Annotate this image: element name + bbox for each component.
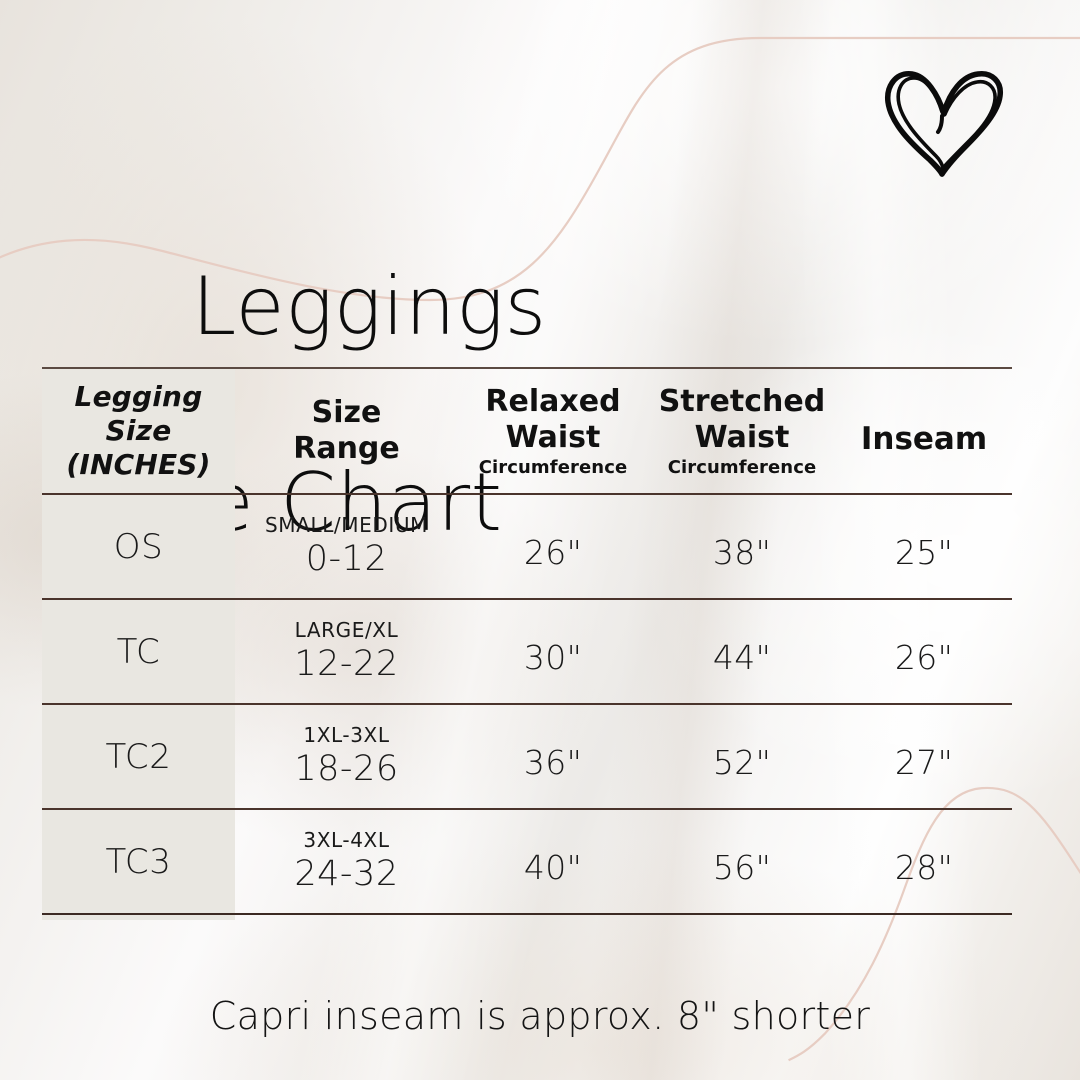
cell-stretched-waist: 38" (648, 500, 836, 605)
cell-size-range-label: 1XL-3XL (235, 723, 458, 747)
header-stretched-waist-line1: Stretched (648, 384, 836, 420)
header-stretched-waist-line2: Waist (648, 420, 836, 456)
cell-stretched-waist: 56" (648, 815, 836, 920)
header-size-range: Size Range (235, 368, 458, 494)
cell-size-range-label: LARGE/XL (235, 618, 458, 642)
cell-size-range: 1XL-3XL 18-26 (235, 704, 458, 809)
heart-doodle-icon (878, 56, 1014, 186)
footnote: Capri inseam is approx. 8" shorter (0, 994, 1080, 1038)
header-legging-size-line1: Legging Size (42, 380, 235, 448)
cell-size-range: SMALL/MEDIUM 0-12 (235, 494, 458, 599)
table-row: OS SMALL/MEDIUM 0-12 26" 38" 25" (42, 494, 1012, 599)
table-header: Legging Size (INCHES) Size Range Relaxed… (42, 368, 1012, 494)
cell-relaxed-waist: 36" (458, 710, 648, 815)
header-size-range-line2: Range (235, 431, 458, 467)
header-stretched-waist: Stretched Waist Circumference (648, 368, 836, 494)
header-relaxed-waist: Relaxed Waist Circumference (458, 368, 648, 494)
table-row: TC2 1XL-3XL 18-26 36" 52" 27" (42, 704, 1012, 809)
header-relaxed-waist-line2: Waist (458, 420, 648, 456)
cell-size-range: 3XL-4XL 24-32 (235, 809, 458, 914)
page-title-line1: Leggings (192, 260, 547, 353)
cell-size: TC2 (42, 704, 235, 809)
cell-size-range-numbers: 12-22 (235, 643, 458, 685)
header-legging-size: Legging Size (INCHES) (42, 368, 235, 494)
header-inseam: Inseam (836, 376, 1012, 502)
cell-size-range: LARGE/XL 12-22 (235, 599, 458, 704)
cell-size-range-numbers: 18-26 (235, 748, 458, 790)
cell-size: OS (42, 494, 235, 599)
header-relaxed-waist-line1: Relaxed (458, 384, 648, 420)
cell-inseam: 25" (836, 500, 1012, 605)
cell-size-range-numbers: 24-32 (235, 853, 458, 895)
header-stretched-waist-sub: Circumference (648, 457, 836, 479)
header-legging-size-line2: (INCHES) (42, 448, 235, 482)
header-relaxed-waist-sub: Circumference (458, 457, 648, 479)
cell-inseam: 28" (836, 815, 1012, 920)
size-chart-canvas: Leggings Size Chart Legging Size (INCHES… (0, 0, 1080, 1080)
cell-relaxed-waist: 30" (458, 605, 648, 710)
cell-stretched-waist: 52" (648, 710, 836, 815)
cell-size-range-label: SMALL/MEDIUM (235, 513, 458, 537)
table-header-row: Legging Size (INCHES) Size Range Relaxed… (42, 368, 1012, 494)
cell-size: TC3 (42, 809, 235, 914)
size-chart-table-wrap: Legging Size (INCHES) Size Range Relaxed… (42, 367, 1012, 915)
cell-size-range-numbers: 0-12 (235, 538, 458, 580)
cell-relaxed-waist: 26" (458, 500, 648, 605)
header-size-range-line1: Size (235, 395, 458, 431)
table-body: OS SMALL/MEDIUM 0-12 26" 38" 25" TC LARG… (42, 494, 1012, 915)
table-row: TC LARGE/XL 12-22 30" 44" 26" (42, 599, 1012, 704)
cell-size-range-label: 3XL-4XL (235, 828, 458, 852)
cell-inseam: 27" (836, 710, 1012, 815)
table-row: TC3 3XL-4XL 24-32 40" 56" 28" (42, 809, 1012, 914)
cell-size: TC (42, 599, 235, 704)
cell-inseam: 26" (836, 605, 1012, 710)
size-chart-table: Legging Size (INCHES) Size Range Relaxed… (42, 367, 1012, 915)
cell-stretched-waist: 44" (648, 605, 836, 710)
cell-relaxed-waist: 40" (458, 815, 648, 920)
